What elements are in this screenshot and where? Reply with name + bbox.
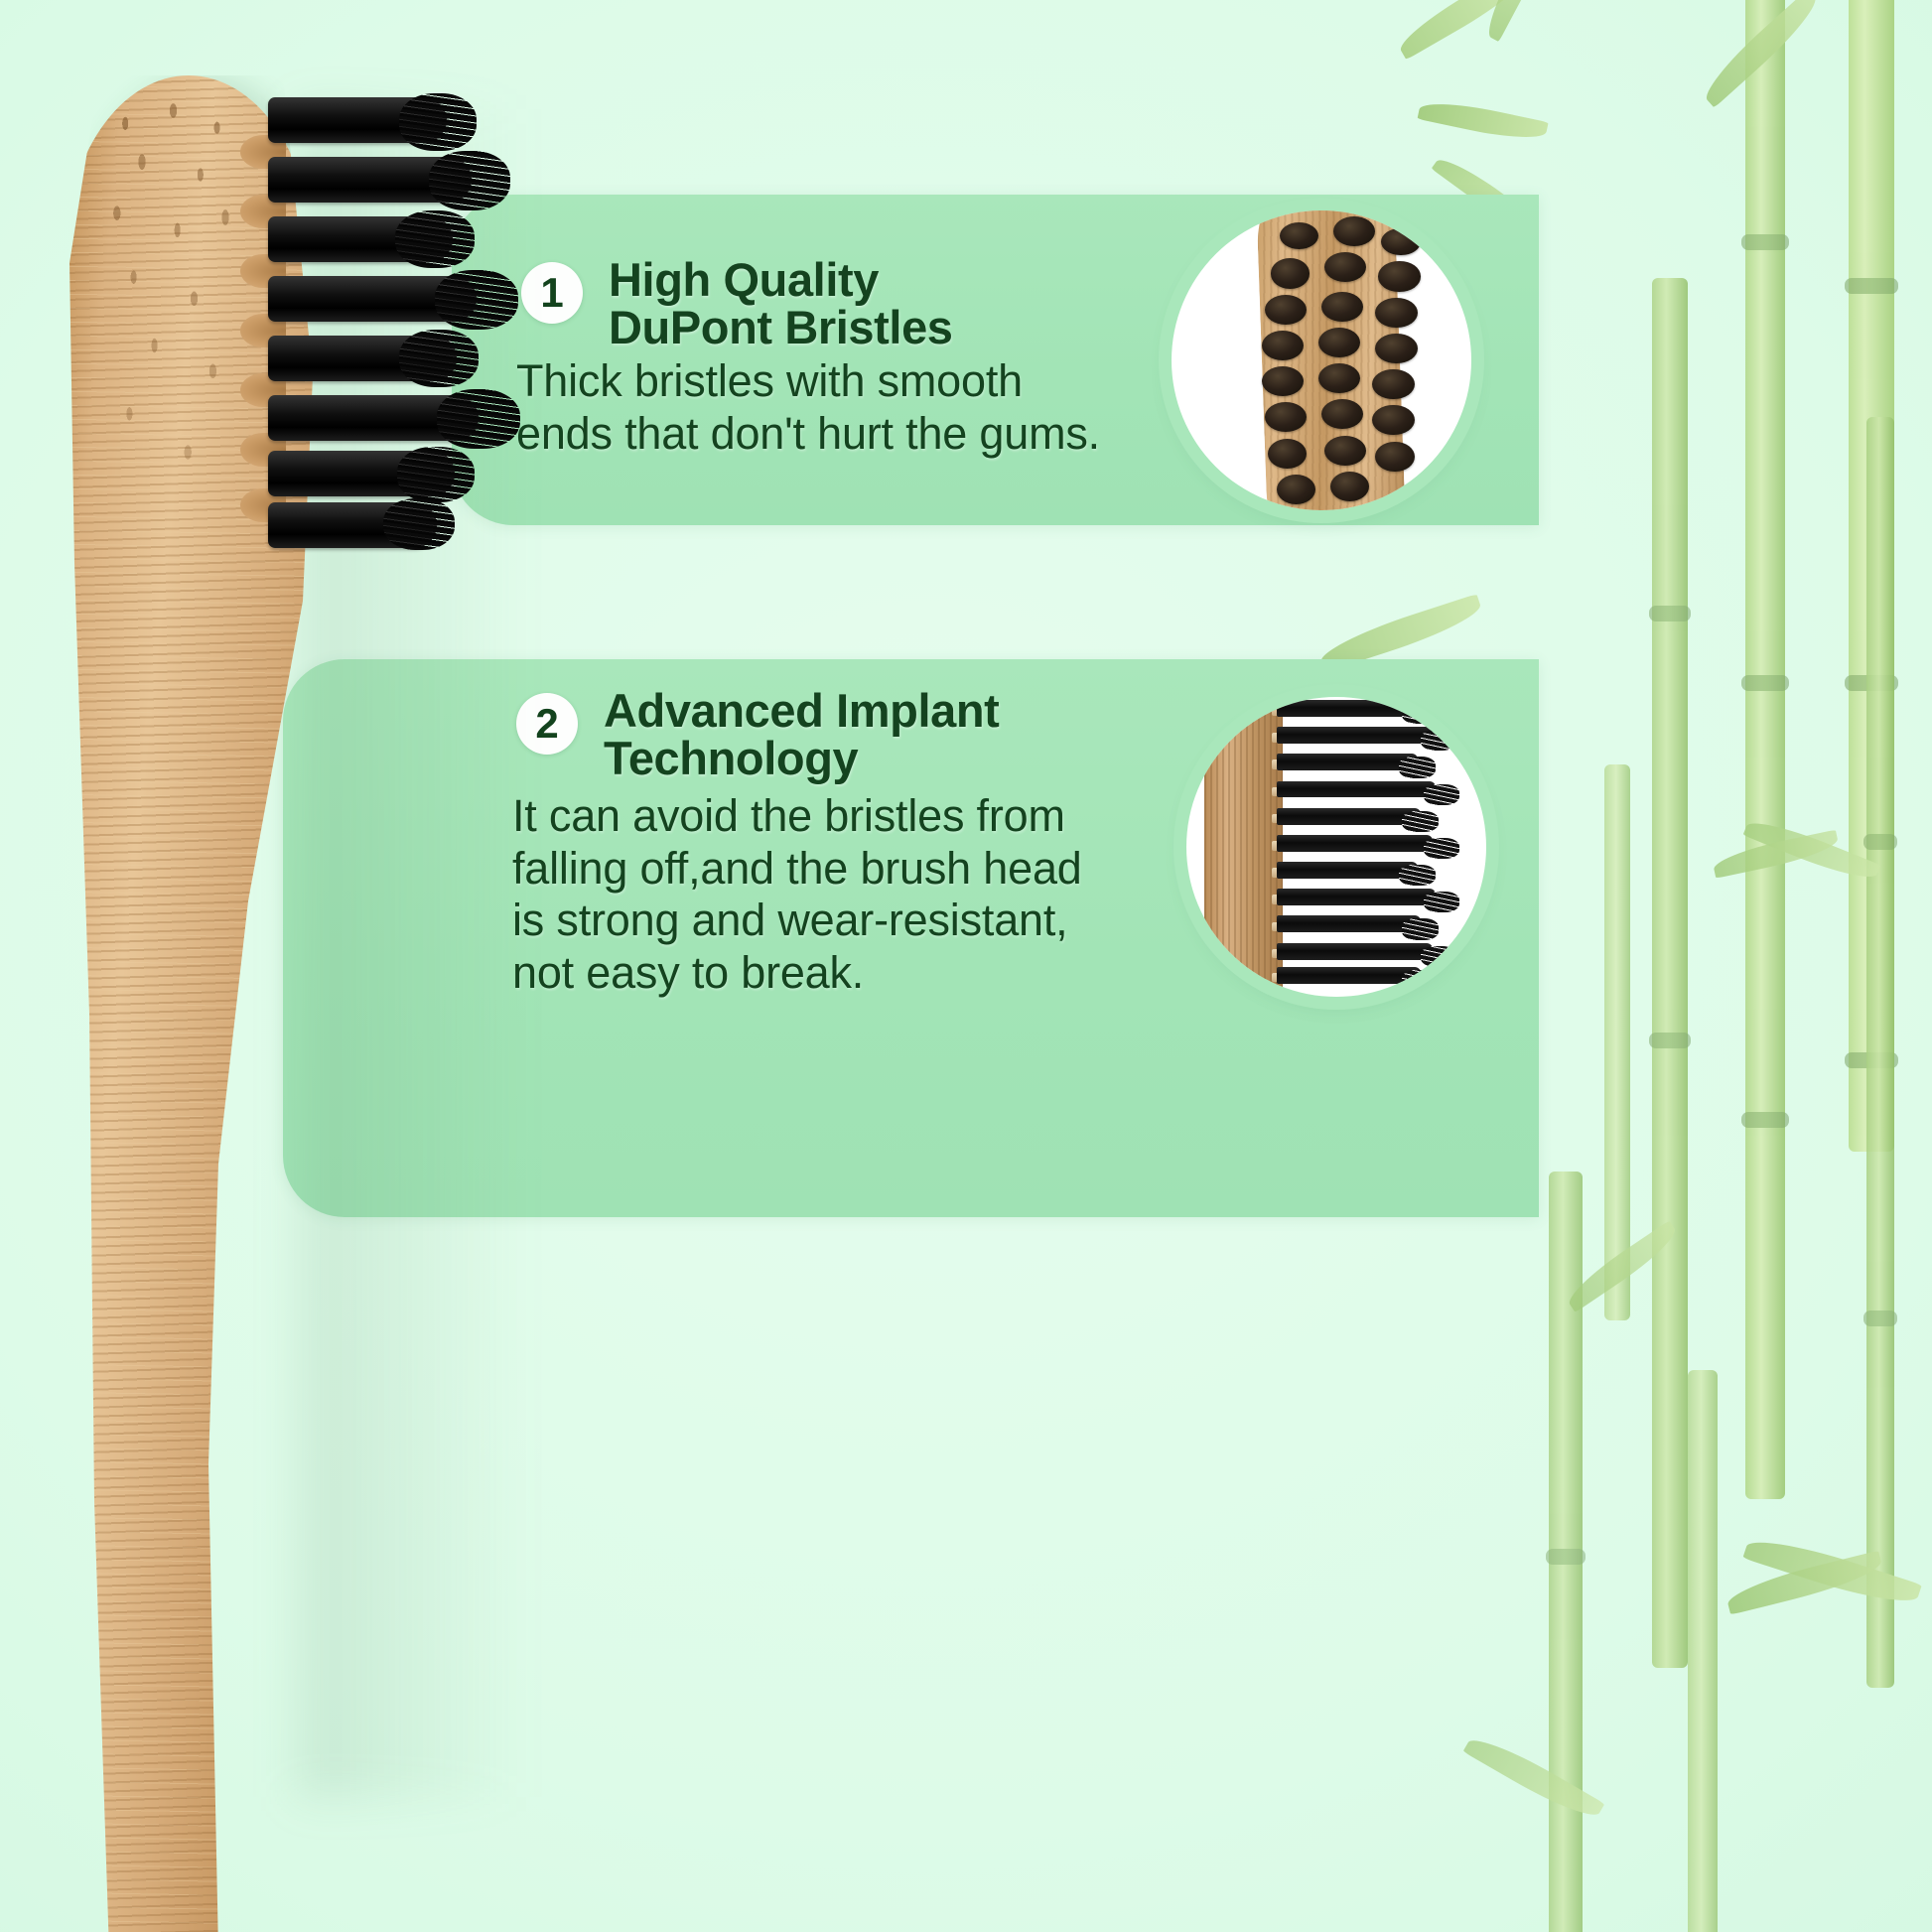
bamboo-stalk-icon — [1849, 0, 1894, 1152]
feature-1-heading: 1 High Quality DuPont Bristles — [521, 256, 953, 352]
feature-2-photo-inset — [1186, 697, 1486, 997]
bamboo-stalk-icon — [1745, 0, 1785, 1499]
feature-2-title: Advanced Implant Technology — [604, 687, 999, 783]
bamboo-stalk-icon — [1604, 764, 1630, 1320]
feature-2-heading: 2 Advanced Implant Technology — [516, 687, 999, 783]
bamboo-leaf-icon — [1463, 1729, 1605, 1827]
bamboo-stalk-icon — [1688, 1370, 1718, 1932]
bamboo-head-edge — [1204, 697, 1283, 997]
feature-1-number-badge: 1 — [521, 262, 583, 324]
bamboo-leaf-icon — [1394, 0, 1536, 60]
brush-head-side-bristles-photo — [1186, 697, 1486, 997]
bamboo-toothbrush-product-image — [0, 40, 526, 1932]
bamboo-leaf-icon — [1743, 813, 1881, 888]
product-infographic: 1 High Quality DuPont Bristles Thick bri… — [0, 0, 1932, 1932]
bamboo-leaf-icon — [1712, 830, 1841, 879]
bamboo-stalk-icon — [1652, 278, 1688, 1668]
feature-1-description: Thick bristles with smooth ends that don… — [516, 355, 1100, 460]
feature-1-photo-inset — [1172, 210, 1471, 510]
brush-head-tufts-photo — [1172, 210, 1471, 510]
bamboo-leaf-icon — [1725, 1551, 1885, 1615]
bamboo-leaf-icon — [1697, 0, 1825, 108]
bamboo-leaf-icon — [1742, 1530, 1921, 1613]
bamboo-leaf-icon — [1479, 0, 1555, 42]
bamboo-leaf-icon — [1562, 1220, 1682, 1312]
feature-1-title: High Quality DuPont Bristles — [609, 256, 953, 352]
bamboo-stalk-icon — [1866, 417, 1894, 1688]
feature-2-description: It can avoid the bristles from falling o… — [512, 790, 1082, 1000]
bamboo-leaf-icon — [1418, 95, 1549, 146]
bamboo-stalk-icon — [1549, 1172, 1583, 1932]
